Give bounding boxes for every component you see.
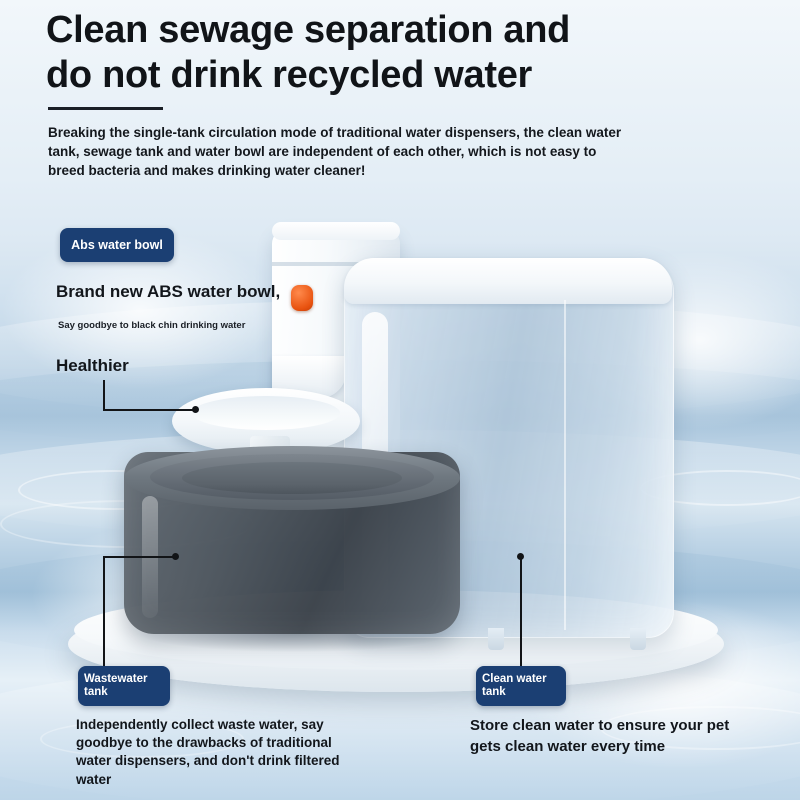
leader-line-wastewater-vertical bbox=[103, 556, 105, 666]
abs-bowl-subtext: Say goodbye to black chin drinking water bbox=[58, 320, 245, 331]
abs-water-bowl-body bbox=[196, 408, 336, 450]
leader-line-healthier-vertical bbox=[103, 380, 105, 410]
leader-line-wastewater-horizontal bbox=[103, 556, 175, 558]
subheading-paragraph: Breaking the single-tank circulation mod… bbox=[48, 123, 628, 180]
abs-water-bowl-rim bbox=[172, 388, 360, 454]
clean-water-tank bbox=[344, 258, 674, 638]
clean-water-tank-seam bbox=[564, 300, 566, 630]
wastewater-tank bbox=[124, 452, 460, 634]
badge-abs-water-bowl: Abs water bowl bbox=[60, 228, 174, 262]
water-wave-4 bbox=[0, 540, 800, 670]
headline-underline-rule bbox=[48, 107, 163, 110]
wastewater-tank-lid bbox=[124, 446, 460, 510]
water-mist-3 bbox=[30, 520, 330, 670]
dispenser-column bbox=[272, 228, 400, 468]
wastewater-tank-lid-ring bbox=[150, 454, 434, 500]
leader-dot-healthier bbox=[192, 406, 199, 413]
wastewater-tank-shadow bbox=[140, 614, 450, 652]
headline-line-1: Clean sewage separation and bbox=[46, 9, 570, 51]
wastewater-tank-lid-inner bbox=[182, 462, 402, 494]
clean-water-tank-highlight bbox=[362, 312, 388, 612]
leader-dot-wastewater bbox=[172, 553, 179, 560]
leader-line-cleanwater-vertical bbox=[520, 556, 522, 666]
badge-clean-water-tank: Clean water tank bbox=[476, 666, 566, 706]
headline-line-2: do not drink recycled water bbox=[46, 53, 766, 98]
leader-dot-cleanwater bbox=[517, 553, 524, 560]
healthier-label: Healthier bbox=[56, 356, 129, 376]
wastewater-description: Independently collect waste water, say g… bbox=[76, 716, 366, 789]
leader-line-healthier-horizontal bbox=[103, 409, 195, 411]
water-spout bbox=[272, 356, 346, 398]
cleanwater-description: Store clean water to ensure your pet get… bbox=[470, 716, 730, 757]
dispenser-column-band bbox=[272, 262, 400, 266]
clean-water-tank-lid bbox=[344, 258, 672, 304]
clean-water-tank-foot-right bbox=[630, 628, 646, 650]
power-button bbox=[291, 285, 313, 311]
abs-water-bowl-basin bbox=[192, 396, 340, 430]
water-mist-2 bbox=[560, 250, 800, 430]
headline: Clean sewage separation and do not drink… bbox=[46, 8, 766, 98]
abs-bowl-heading: Brand new ABS water bowl, bbox=[56, 282, 280, 302]
water-ripple-1 bbox=[18, 470, 212, 510]
product-poster: Clean sewage separation and do not drink… bbox=[0, 0, 800, 800]
water-wave-3 bbox=[0, 430, 800, 540]
dispenser-column-cap bbox=[272, 222, 400, 240]
clean-water-tank-foot-left bbox=[488, 628, 504, 650]
base-plate-top bbox=[74, 590, 718, 670]
abs-water-bowl-stem bbox=[250, 436, 290, 472]
badge-wastewater-tank: Wastewater tank bbox=[78, 666, 170, 706]
water-ripple-2 bbox=[0, 500, 254, 548]
water-ripple-3 bbox=[640, 470, 800, 506]
